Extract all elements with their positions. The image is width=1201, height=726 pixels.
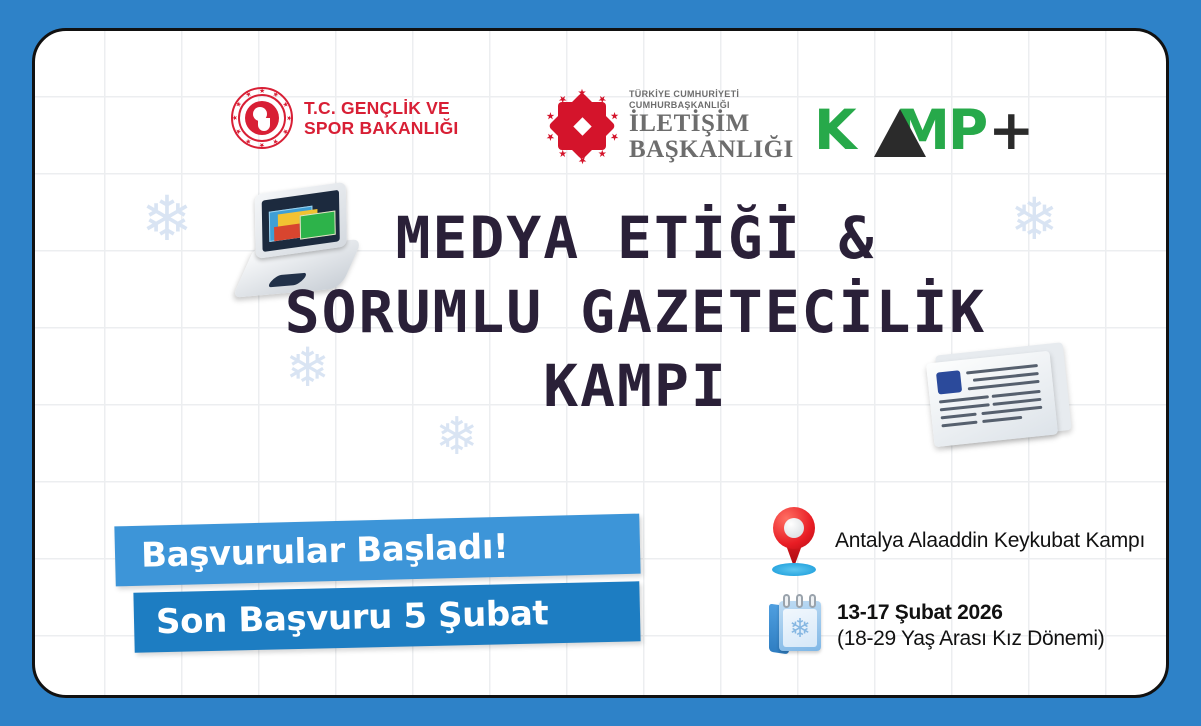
calendar-front-panel: ❄ xyxy=(779,601,821,651)
snowflake-icon: ❄ xyxy=(789,615,811,641)
iletisim-sup-line1: TÜRKİYE CUMHURİYETİ xyxy=(629,89,794,100)
pin-hole xyxy=(784,518,804,538)
snowflake-icon: ❄ xyxy=(435,411,479,463)
newspaper-text-line xyxy=(939,395,989,403)
newspaper-photo-block xyxy=(936,370,962,394)
kamp-plus-sign: + xyxy=(988,103,1034,158)
gsb-logo-text: T.C. GENÇLİK VE SPOR BAKANLIĞI xyxy=(304,98,458,138)
kamp-wordmark: KAMP xyxy=(814,103,986,158)
calendar-icon: ❄ xyxy=(767,595,825,657)
applications-open-banner: Başvurular Başladı! xyxy=(114,514,640,587)
date-note-text: (18-29 Yaş Arası Kız Dönemi) xyxy=(837,627,1104,651)
event-info: Antalya Alaaddin Keykubat Kampı ❄ xyxy=(765,505,1165,675)
location-row: Antalya Alaaddin Keykubat Kampı xyxy=(765,505,1165,577)
kamp-plus-logo: KAMP + xyxy=(814,103,1034,158)
gsb-seal-icon: ★ ★ ★ ★ ★ ★ ★ ★ ★ ★ ★ ★ xyxy=(231,87,293,149)
headline-line-2: SORUMLU GAZETECİLİK xyxy=(35,283,1169,341)
kamp-letter-k: K xyxy=(814,98,855,162)
newspaper-front-sheet xyxy=(926,351,1058,448)
iletisim-main-line1: İLETİŞİM xyxy=(629,111,794,137)
location-text-group: Antalya Alaaddin Keykubat Kampı xyxy=(835,529,1145,553)
iletisim-main-line2: BAŞKANLIĞI xyxy=(629,137,794,163)
newspaper-text-line xyxy=(941,413,977,420)
pin-shadow xyxy=(772,563,816,576)
poster-card: ❄ ❄ ❄ ❄ ★ ★ ★ ★ ★ ★ ★ ★ ★ ★ ★ ★ xyxy=(32,28,1169,698)
newspaper-text-line xyxy=(968,380,1040,391)
location-pin-icon xyxy=(765,505,823,577)
newspaper-text-line xyxy=(940,403,990,411)
iletisim-mark-icon: ★ ★ ★ ★ ★ ★ ★ ★ ★ ★ xyxy=(545,89,619,163)
gsb-logo-line2: SPOR BAKANLIĞI xyxy=(304,118,458,138)
location-text: Antalya Alaaddin Keykubat Kampı xyxy=(835,529,1145,553)
date-row: ❄ 13-17 Şubat 2026 (18-29 Yaş Arası Kız … xyxy=(765,595,1165,657)
headline-line-1: MEDYA ETİĞİ & xyxy=(35,209,1169,267)
iletisim-baskanligi-logo: ★ ★ ★ ★ ★ ★ ★ ★ ★ ★ TÜRKİYE CUMHURİYETİ … xyxy=(545,89,794,163)
application-deadline-banner: Son Başvuru 5 Şubat xyxy=(133,581,640,652)
gsb-seal-emblem xyxy=(245,101,279,135)
newspaper-text-line xyxy=(941,421,977,428)
newspaper-text-line xyxy=(982,416,1022,423)
date-text: 13-17 Şubat 2026 xyxy=(837,601,1104,625)
iletisim-logo-text: TÜRKİYE CUMHURİYETİ CUMHURBAŞKANLIĞI İLE… xyxy=(629,89,794,163)
newspaper-text-line xyxy=(981,406,1042,415)
kamp-triangle-a-icon xyxy=(874,109,926,157)
calendar-page: ❄ xyxy=(783,609,817,647)
newspaper-text-line xyxy=(992,398,1041,406)
gsb-logo-line1: T.C. GENÇLİK VE xyxy=(304,98,458,118)
poster: ❄ ❄ ❄ ❄ ★ ★ ★ ★ ★ ★ ★ ★ ★ ★ ★ ★ xyxy=(0,0,1201,726)
gsb-logo: ★ ★ ★ ★ ★ ★ ★ ★ ★ ★ ★ ★ T.C. GENÇLİK VE … xyxy=(231,87,458,149)
newspaper-icon xyxy=(925,342,1076,454)
date-text-group: 13-17 Şubat 2026 (18-29 Yaş Arası Kız Dö… xyxy=(837,601,1104,651)
newspaper-text-line xyxy=(992,390,1041,398)
calendar-rings xyxy=(779,594,821,608)
